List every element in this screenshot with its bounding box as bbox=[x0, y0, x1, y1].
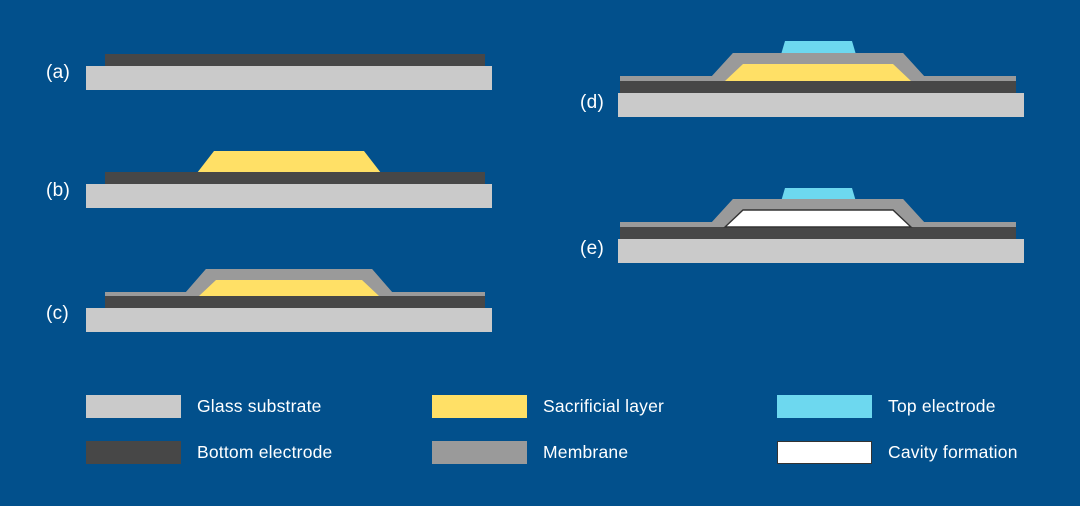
legend-label-bottom-electrode: Bottom electrode bbox=[197, 442, 333, 463]
legend-swatch-top-electrode bbox=[777, 395, 872, 418]
legend-item-cavity-formation: Cavity formation bbox=[777, 441, 1018, 464]
panel-c-bottom-electrode bbox=[105, 296, 485, 308]
legend-item-membrane: Membrane bbox=[432, 441, 628, 464]
panel-e-glass-substrate bbox=[618, 239, 1024, 263]
legend-swatch-bottom-electrode bbox=[86, 441, 181, 464]
legend-swatch-glass-substrate bbox=[86, 395, 181, 418]
panel-b-sacrificial-layer bbox=[197, 151, 381, 173]
legend-item-sacrificial-layer: Sacrificial layer bbox=[432, 395, 664, 418]
legend-swatch-sacrificial-layer bbox=[432, 395, 527, 418]
process-flow-diagram bbox=[0, 0, 1080, 506]
legend-label-top-electrode: Top electrode bbox=[888, 396, 996, 417]
legend-item-glass-substrate: Glass substrate bbox=[86, 395, 322, 418]
panel-a-glass-substrate bbox=[86, 66, 492, 90]
panel-c-sacrificial-fill bbox=[199, 280, 379, 296]
panel-d-sacrificial-fill bbox=[725, 64, 911, 81]
panel-d bbox=[618, 41, 1024, 117]
panel-b-glass-substrate bbox=[86, 184, 492, 208]
legend-label-glass-substrate: Glass substrate bbox=[197, 396, 322, 417]
panel-b-bottom-electrode bbox=[105, 172, 485, 184]
panel-c bbox=[86, 269, 492, 332]
panel-d-bottom-electrode bbox=[620, 81, 1016, 93]
legend-label-sacrificial-layer: Sacrificial layer bbox=[543, 396, 664, 417]
panel-a bbox=[86, 54, 492, 90]
panel-e-bottom-electrode bbox=[620, 227, 1016, 239]
legend-label-cavity-formation: Cavity formation bbox=[888, 442, 1018, 463]
panel-e bbox=[618, 188, 1024, 263]
panel-e-cavity-fill bbox=[725, 210, 911, 227]
legend-label-membrane: Membrane bbox=[543, 442, 628, 463]
panel-c-glass-substrate bbox=[86, 308, 492, 332]
panel-b bbox=[86, 151, 492, 208]
legend-item-top-electrode: Top electrode bbox=[777, 395, 996, 418]
panel-d-glass-substrate bbox=[618, 93, 1024, 117]
panel-a-bottom-electrode bbox=[105, 54, 485, 66]
legend-item-bottom-electrode: Bottom electrode bbox=[86, 441, 333, 464]
legend-swatch-cavity-formation bbox=[777, 441, 872, 464]
legend-swatch-membrane bbox=[432, 441, 527, 464]
